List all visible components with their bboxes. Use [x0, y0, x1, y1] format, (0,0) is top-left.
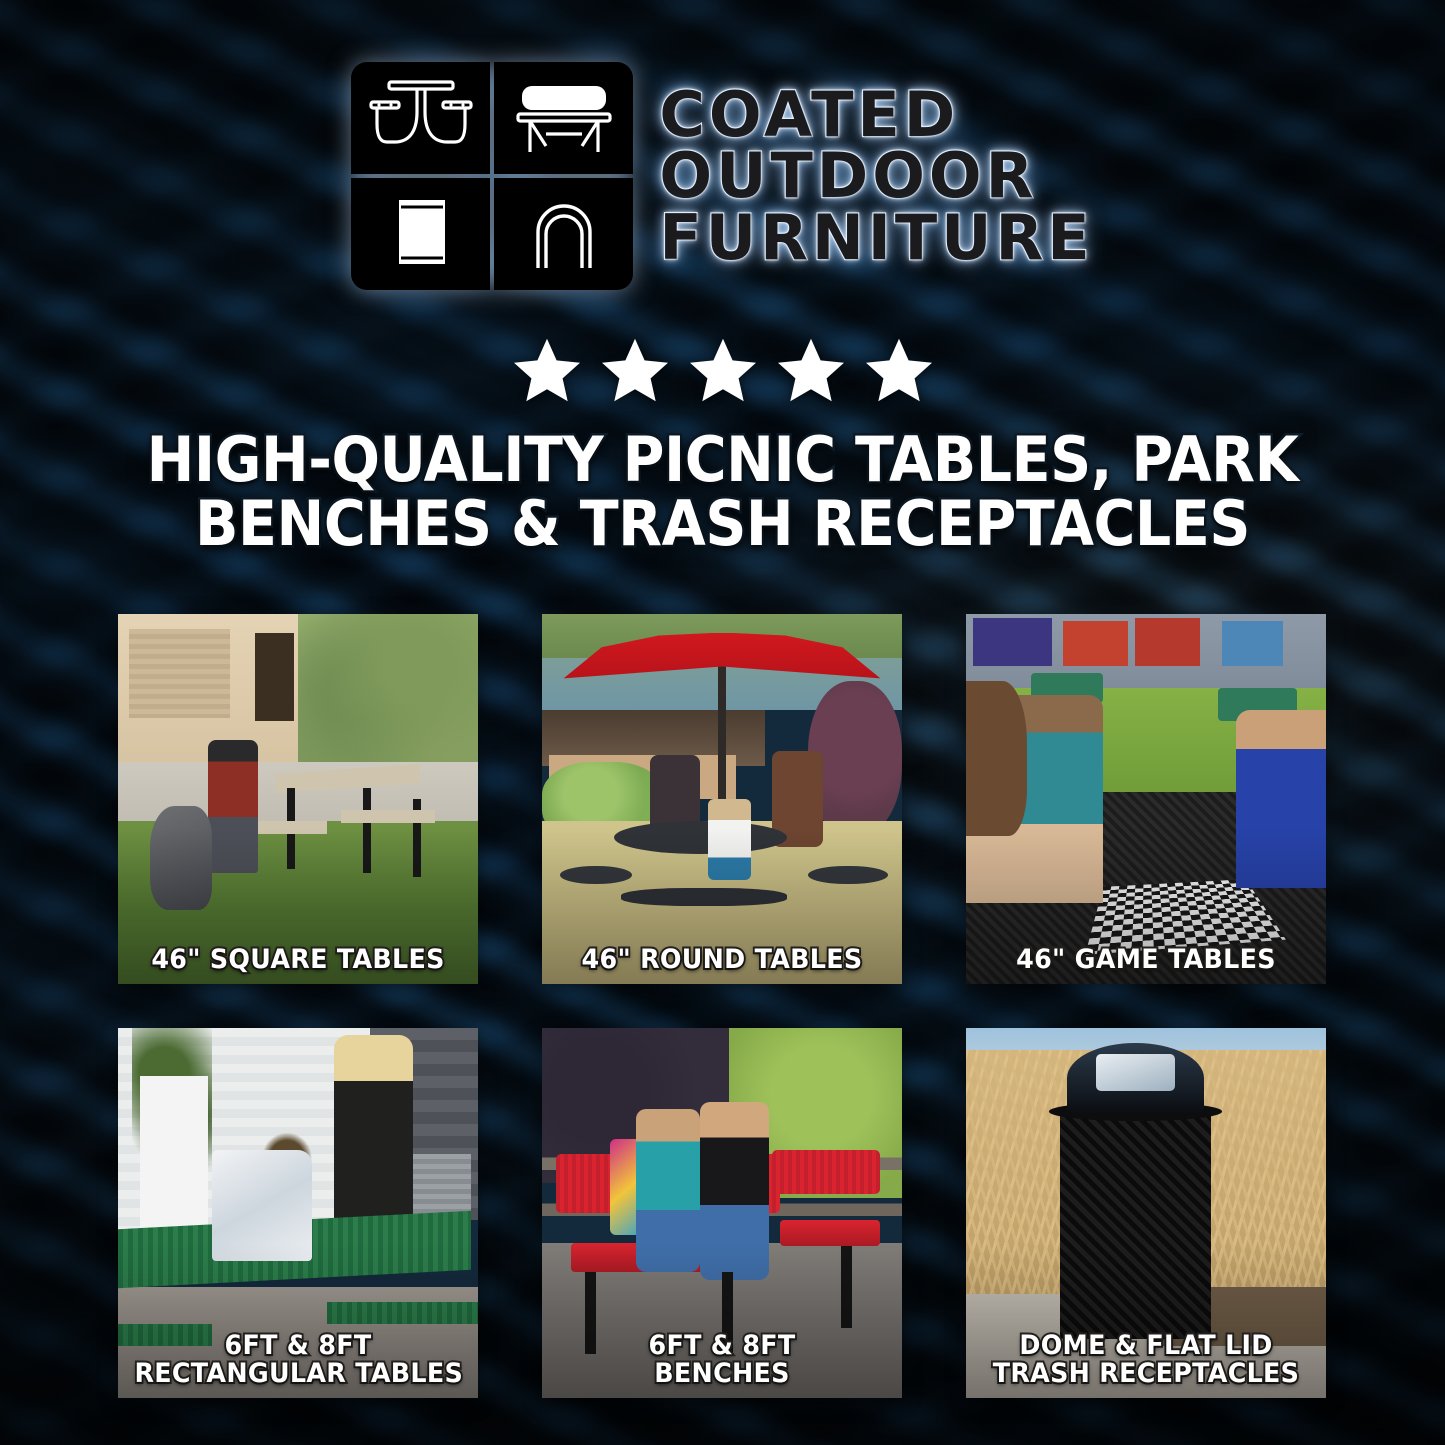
caption-line-2: TRASH RECEPTACLES	[982, 1360, 1309, 1388]
product-caption: 46" GAME TABLES	[982, 946, 1309, 974]
picnic-table-icon	[351, 62, 490, 174]
bike-rack-icon	[494, 178, 633, 290]
product-tile-game-tables[interactable]: 46" GAME TABLES	[966, 614, 1326, 984]
caption-line-1: 46" SQUARE TABLES	[134, 946, 461, 974]
star-icon	[686, 334, 760, 406]
product-caption: 46" SQUARE TABLES	[134, 946, 461, 974]
brand-line-2: OUTDOOR	[659, 146, 1093, 206]
product-photo-round-tables	[542, 614, 902, 984]
caption-line-1: 6FT & 8FT	[558, 1332, 885, 1360]
product-photo-game-tables	[966, 614, 1326, 984]
trash-receptacle-icon	[351, 178, 490, 290]
product-grid: 46" SQUARE TABLES	[118, 614, 1327, 1398]
product-tile-square-tables[interactable]: 46" SQUARE TABLES	[118, 614, 478, 984]
caption-line-1: 46" GAME TABLES	[982, 946, 1309, 974]
product-caption: DOME & FLAT LID TRASH RECEPTACLES	[982, 1332, 1309, 1388]
star-icon	[598, 334, 672, 406]
caption-line-1: 46" ROUND TABLES	[558, 946, 885, 974]
page-title: HIGH-QUALITY PICNIC TABLES, PARK BENCHES…	[113, 428, 1332, 556]
logo-icon-grid	[351, 62, 633, 290]
caption-line-2: RECTANGULAR TABLES	[134, 1360, 461, 1388]
star-icon	[774, 334, 848, 406]
headline-line-2: BENCHES & TRASH RECEPTACLES	[113, 492, 1332, 556]
brand-line-3: FURNITURE	[659, 208, 1093, 268]
product-tile-trash-receptacles[interactable]: DOME & FLAT LID TRASH RECEPTACLES	[966, 1028, 1326, 1398]
product-tile-round-tables[interactable]: 46" ROUND TABLES	[542, 614, 902, 984]
product-caption: 46" ROUND TABLES	[558, 946, 885, 974]
product-caption: 6FT & 8FT BENCHES	[558, 1332, 885, 1388]
brand-line-1: COATED	[659, 85, 1093, 145]
product-photo-square-tables	[118, 614, 478, 984]
product-caption: 6FT & 8FT RECTANGULAR TABLES	[134, 1332, 461, 1388]
bench-table-icon	[494, 62, 633, 174]
headline-line-1: HIGH-QUALITY PICNIC TABLES, PARK	[113, 428, 1332, 492]
caption-line-2: BENCHES	[558, 1360, 885, 1388]
star-icon	[862, 334, 936, 406]
brand-logo: COATED OUTDOOR FURNITURE	[0, 62, 1445, 290]
brand-wordmark: COATED OUTDOOR FURNITURE	[659, 85, 1093, 268]
caption-line-1: DOME & FLAT LID	[982, 1332, 1309, 1360]
star-rating	[0, 334, 1445, 406]
product-tile-rectangular-tables[interactable]: 6FT & 8FT RECTANGULAR TABLES	[118, 1028, 478, 1398]
star-icon	[510, 334, 584, 406]
caption-line-1: 6FT & 8FT	[134, 1332, 461, 1360]
product-tile-benches[interactable]: 6FT & 8FT BENCHES	[542, 1028, 902, 1398]
